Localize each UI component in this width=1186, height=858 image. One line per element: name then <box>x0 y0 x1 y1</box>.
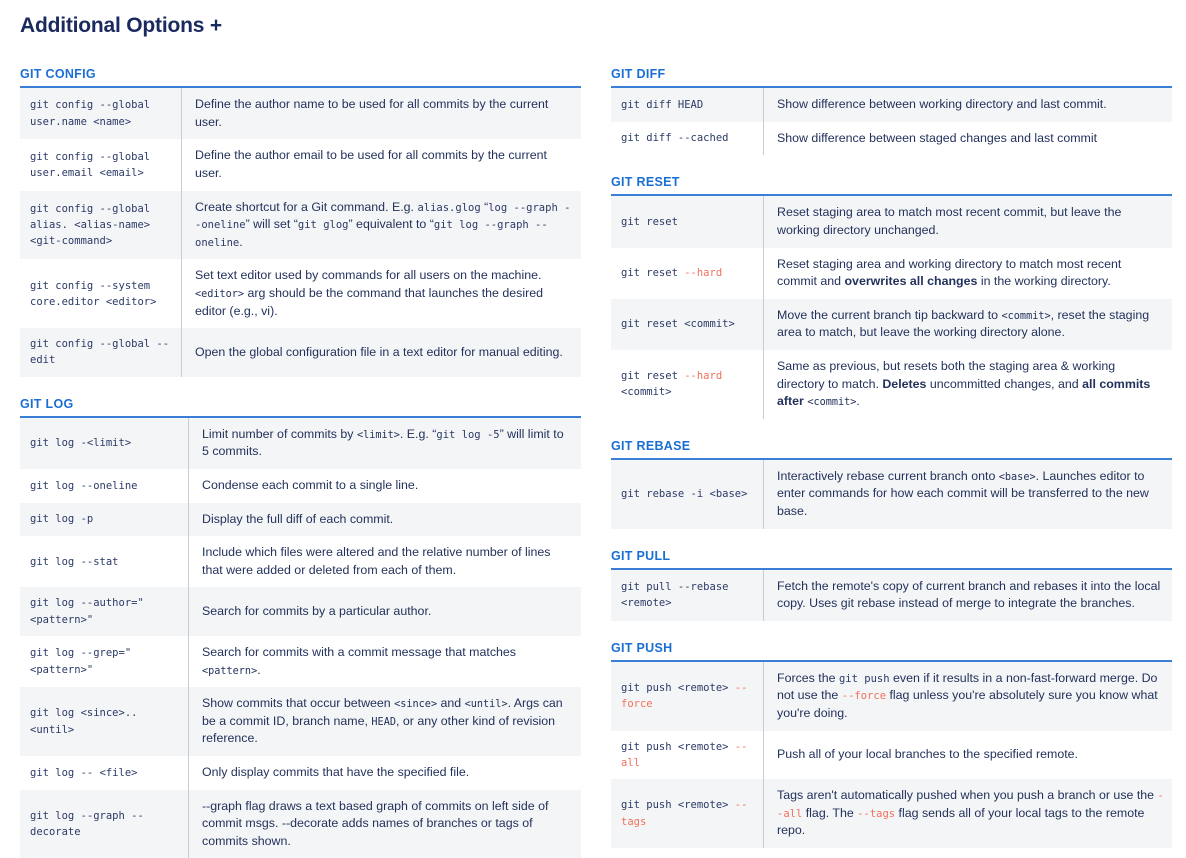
table-row: git log --statInclude which files were a… <box>20 536 581 587</box>
placeholder-arg: <until> <box>465 699 508 710</box>
table-row: git config --global user.name <name>Defi… <box>20 87 581 139</box>
table-row: git pull --rebase <remote>Fetch the remo… <box>611 569 1172 621</box>
description-cell: Tags aren't automatically pushed when yo… <box>764 779 1173 848</box>
table-row: git config --global user.email <email>De… <box>20 139 581 190</box>
section-git-config: GIT CONFIGgit config --global user.name … <box>20 67 581 377</box>
section-title: GIT CONFIG <box>20 67 581 81</box>
command-cell: git log -- <file> <box>20 756 189 790</box>
table-row: git push <remote> --tagsTags aren't auto… <box>611 779 1172 848</box>
command-cell: git reset <box>611 195 764 247</box>
flag-token: --all <box>777 790 1164 820</box>
command-cell: git config --global user.email <email> <box>20 139 182 190</box>
description-cell: Search for commits by a particular autho… <box>189 587 582 636</box>
section-title: GIT REBASE <box>611 439 1172 453</box>
section-git-push: GIT PUSHgit push <remote> --forceForces … <box>611 641 1172 848</box>
description-cell: Limit number of commits by <limit>. E.g.… <box>189 417 582 469</box>
command-table: git log -<limit>Limit number of commits … <box>20 416 581 858</box>
command-table: git resetReset staging area to match mos… <box>611 194 1172 418</box>
table-row: git resetReset staging area to match mos… <box>611 195 1172 247</box>
table-row: git config --system core.editor <editor>… <box>20 259 581 328</box>
command-cell: git config --global user.name <name> <box>20 87 182 139</box>
command-cell: git config --global --edit <box>20 328 182 377</box>
two-column-layout: GIT CONFIGgit config --global user.name … <box>20 67 1172 858</box>
table-row: git log -- <file>Only display commits th… <box>20 756 581 790</box>
description-cell: Search for commits with a commit message… <box>189 636 582 687</box>
command-table: git rebase -i <base>Interactively rebase… <box>611 458 1172 529</box>
emphasis-text: overwrites all changes <box>844 274 977 288</box>
placeholder-arg: <commit> <box>1002 311 1051 322</box>
emphasis-text: Deletes <box>882 377 926 391</box>
left-column: GIT CONFIGgit config --global user.name … <box>20 67 581 858</box>
command-cell: git log -<limit> <box>20 417 189 469</box>
table-row: git rebase -i <base>Interactively rebase… <box>611 459 1172 529</box>
inline-code: git log -5 <box>436 429 499 441</box>
page-title: Additional Options + <box>20 14 1172 37</box>
command-cell: git log --stat <box>20 536 189 587</box>
description-cell: Define the author name to be used for al… <box>182 87 582 139</box>
command-cell: git diff HEAD <box>611 87 764 122</box>
command-table: git push <remote> --forceForces the git … <box>611 660 1172 848</box>
command-cell: git log -p <box>20 503 189 537</box>
section-git-log: GIT LOGgit log -<limit>Limit number of c… <box>20 397 581 858</box>
command-cell: git push <remote> --tags <box>611 779 764 848</box>
table-row: git log --onelineCondense each commit to… <box>20 469 581 503</box>
description-cell: Only display commits that have the speci… <box>189 756 582 790</box>
command-cell: git log <since>..<until> <box>20 687 189 756</box>
description-cell: Reset staging area and working directory… <box>764 248 1173 299</box>
description-cell: Show difference between working director… <box>764 87 1173 122</box>
flag-token: --all <box>621 741 747 769</box>
command-cell: git log --graph --decorate <box>20 790 189 858</box>
table-row: git log --author="<pattern>"Search for c… <box>20 587 581 636</box>
table-row: git log <since>..<until>Show commits tha… <box>20 687 581 756</box>
command-cell: git log --oneline <box>20 469 189 503</box>
section-title: GIT PUSH <box>611 641 1172 655</box>
head-ref: HEAD <box>371 717 396 728</box>
command-table: git diff HEADShow difference between wor… <box>611 86 1172 155</box>
placeholder-arg: <since> <box>394 699 437 710</box>
command-table: git config --global user.name <name>Defi… <box>20 86 581 377</box>
command-table: git pull --rebase <remote>Fetch the remo… <box>611 568 1172 621</box>
command-cell: git log --grep="<pattern>" <box>20 636 189 687</box>
placeholder-arg: <pattern> <box>202 666 257 677</box>
section-title: GIT DIFF <box>611 67 1172 81</box>
flag-token: --hard <box>684 267 722 279</box>
placeholder-arg: <editor> <box>195 289 244 300</box>
table-row: git push <remote> --allPush all of your … <box>611 731 1172 780</box>
section-title: GIT LOG <box>20 397 581 411</box>
table-row: git log -pDisplay the full diff of each … <box>20 503 581 537</box>
description-cell: Create shortcut for a Git command. E.g. … <box>182 191 582 260</box>
description-cell: --graph flag draws a text based graph of… <box>189 790 582 858</box>
command-cell: git push <remote> --force <box>611 661 764 731</box>
description-cell: Display the full diff of each commit. <box>189 503 582 537</box>
table-row: git diff --cachedShow difference between… <box>611 122 1172 156</box>
table-row: git log --grep="<pattern>"Search for com… <box>20 636 581 687</box>
command-cell: git push <remote> --all <box>611 731 764 780</box>
description-cell: Define the author email to be used for a… <box>182 139 582 190</box>
section-title: GIT RESET <box>611 175 1172 189</box>
command-cell: git reset --hard <commit> <box>611 350 764 419</box>
table-row: git reset --hard <commit>Same as previou… <box>611 350 1172 419</box>
flag-token: --force <box>842 690 886 702</box>
description-cell: Same as previous, but resets both the st… <box>764 350 1173 419</box>
description-cell: Open the global configuration file in a … <box>182 328 582 377</box>
section-git-pull: GIT PULLgit pull --rebase <remote>Fetch … <box>611 549 1172 621</box>
description-cell: Show commits that occur between <since> … <box>189 687 582 756</box>
section-title: GIT PULL <box>611 549 1172 563</box>
table-row: git log --graph --decorate--graph flag d… <box>20 790 581 858</box>
table-row: git log -<limit>Limit number of commits … <box>20 417 581 469</box>
table-row: git push <remote> --forceForces the git … <box>611 661 1172 731</box>
placeholder-arg: <commit> <box>807 397 856 408</box>
command-cell: git pull --rebase <remote> <box>611 569 764 621</box>
right-column: GIT DIFFgit diff HEADShow difference bet… <box>611 67 1172 848</box>
section-git-rebase: GIT REBASEgit rebase -i <base>Interactiv… <box>611 439 1172 529</box>
description-cell: Include which files were altered and the… <box>189 536 582 587</box>
cheatsheet-page: Additional Options + GIT CONFIGgit confi… <box>0 0 1186 842</box>
description-cell: Push all of your local branches to the s… <box>764 731 1173 780</box>
inline-code: git glog <box>298 219 349 231</box>
inline-code: git log --graph --oneline <box>195 219 548 249</box>
table-row: git config --global alias. <alias-name> … <box>20 191 581 260</box>
description-cell: Set text editor used by commands for all… <box>182 259 582 328</box>
inline-code: alias.glog <box>417 202 480 214</box>
table-row: git diff HEADShow difference between wor… <box>611 87 1172 122</box>
description-cell: Fetch the remote's copy of current branc… <box>764 569 1173 621</box>
description-cell: Condense each commit to a single line. <box>189 469 582 503</box>
table-row: git reset --hardReset staging area and w… <box>611 248 1172 299</box>
flag-token: --hard <box>684 370 722 382</box>
inline-code: git push <box>839 673 890 685</box>
description-cell: Move the current branch tip backward to … <box>764 299 1173 350</box>
command-cell: git reset <commit> <box>611 299 764 350</box>
description-cell: Reset staging area to match most recent … <box>764 195 1173 247</box>
command-cell: git reset --hard <box>611 248 764 299</box>
description-cell: Interactively rebase current branch onto… <box>764 459 1173 529</box>
command-cell: git rebase -i <base> <box>611 459 764 529</box>
table-row: git reset <commit>Move the current branc… <box>611 299 1172 350</box>
placeholder-arg: <base> <box>999 472 1036 483</box>
command-cell: git config --global alias. <alias-name> … <box>20 191 182 260</box>
section-git-diff: GIT DIFFgit diff HEADShow difference bet… <box>611 67 1172 155</box>
description-cell: Forces the git push even if it results i… <box>764 661 1173 731</box>
command-cell: git log --author="<pattern>" <box>20 587 189 636</box>
description-cell: Show difference between staged changes a… <box>764 122 1173 156</box>
placeholder-arg: <limit> <box>357 430 400 441</box>
section-git-reset: GIT RESETgit resetReset staging area to … <box>611 175 1172 418</box>
command-cell: git config --system core.editor <editor> <box>20 259 182 328</box>
command-cell: git diff --cached <box>611 122 764 156</box>
flag-token: --tags <box>857 808 895 820</box>
table-row: git config --global --editOpen the globa… <box>20 328 581 377</box>
flag-token: --tags <box>621 799 747 827</box>
flag-token: --force <box>621 682 747 710</box>
